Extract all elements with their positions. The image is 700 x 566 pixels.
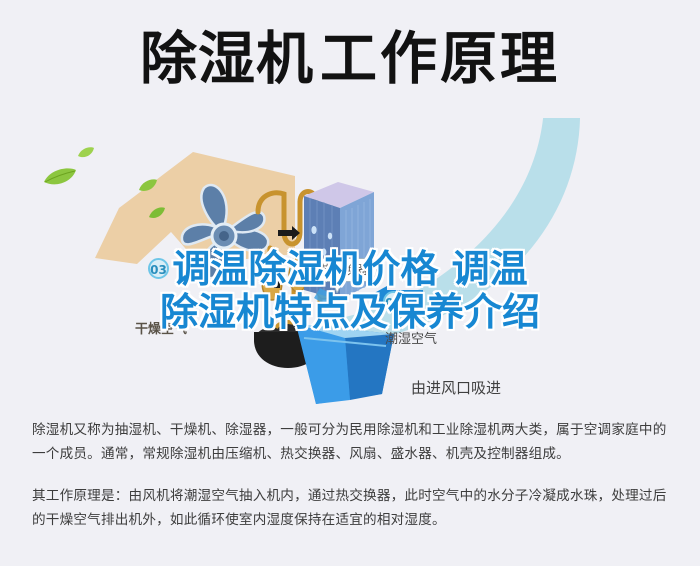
- body-copy: 除湿机又称为抽湿机、干燥机、除湿器，一般可分为民用除湿机和工业除湿机两大类，属于…: [32, 418, 672, 532]
- badge-text: 01: [383, 291, 404, 312]
- leaf-icon: [148, 206, 166, 221]
- step-03-badge: 03: [148, 258, 169, 279]
- callout-tail-icon: [332, 279, 344, 293]
- paragraph-2: 其工作原理是：由风机将潮湿空气抽入机内，通过热交换器，此时空气中的水分子冷凝成水…: [32, 484, 672, 532]
- water-tank-icon: [290, 316, 400, 408]
- leaf-icon: [42, 166, 78, 188]
- heat-exchanger-callout: 热交换器: [311, 258, 377, 282]
- header: 除湿机工作原理: [0, 24, 700, 94]
- paragraph-1: 除湿机又称为抽湿机、干燥机、除湿器，一般可分为民用除湿机和工业除湿机两大类，属于…: [32, 418, 672, 466]
- leaf-icon: [77, 146, 95, 160]
- intake-caption: 由进风口吸进: [411, 377, 501, 398]
- badge-text: 02: [290, 261, 311, 282]
- page-title-part1: 除湿机: [140, 26, 314, 92]
- page-title: 除湿机工作原理: [140, 24, 560, 94]
- infographic-page: 除湿机工作原理: [0, 0, 700, 566]
- step-02-badge: 02: [290, 261, 311, 282]
- leaf-icon: [138, 178, 158, 194]
- illustration-stage: 03 干燥空气 02 热交换器 01 潮湿空气 水箱 由进风口吸进 凝成水珠 0…: [0, 118, 700, 408]
- step-01-badge: 01: [383, 291, 404, 312]
- page-title-part2: 工作原理: [314, 26, 560, 92]
- humid-air-label: 潮湿空气: [385, 328, 437, 347]
- badge-text: 03: [148, 258, 169, 279]
- dry-air-label: 干燥空气: [135, 318, 187, 337]
